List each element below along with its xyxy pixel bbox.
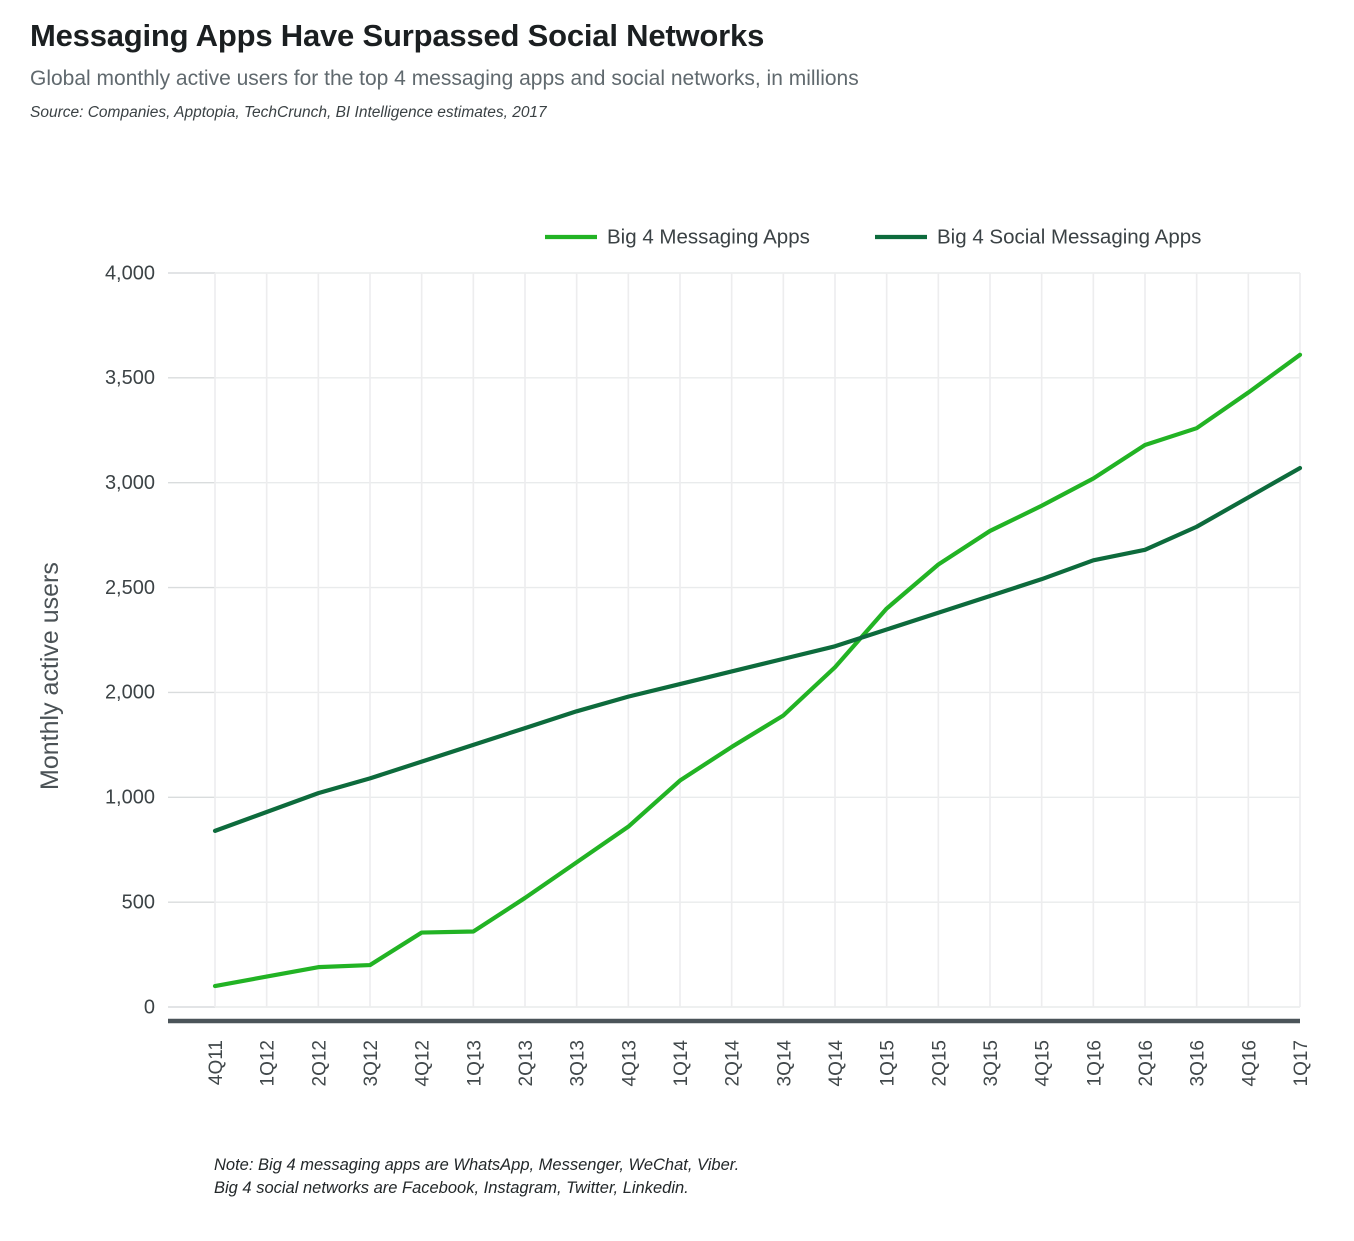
y-axis-tick-label: 500 [122, 891, 155, 913]
x-axis-tick-label: 3Q15 [981, 1040, 1002, 1086]
x-axis-tick-label: 3Q14 [774, 1040, 795, 1087]
legend-item-label[interactable]: Big 4 Messaging Apps [607, 225, 810, 248]
x-axis-tick-label: 4Q11 [206, 1040, 227, 1085]
y-axis-tick-label: 3,500 [105, 367, 155, 389]
y-axis-title: Monthly active users [36, 562, 64, 790]
footnote-line-2: Big 4 social networks are Facebook, Inst… [214, 1177, 739, 1200]
x-axis-tick-label: 1Q13 [464, 1040, 485, 1086]
line-chart-svg: 05001,0002,0002,5003,0003,5004,000 4Q111… [0, 0, 1354, 1241]
x-axis-tick-label: 2Q13 [516, 1040, 537, 1086]
series-line-social [215, 468, 1300, 831]
vertical-gridlines [215, 273, 1300, 1007]
chart-legend: Big 4 Messaging AppsBig 4 Social Messagi… [545, 225, 1201, 248]
series-line-messaging [215, 355, 1300, 986]
legend-item-label[interactable]: Big 4 Social Messaging Apps [937, 225, 1201, 248]
y-axis-tick-label: 1,000 [105, 787, 155, 809]
x-axis-tick-label: 1Q15 [878, 1040, 899, 1086]
x-axis-tick-label: 1Q12 [258, 1040, 279, 1086]
x-axis-tick-label: 1Q16 [1084, 1040, 1105, 1086]
x-axis-tick-label: 4Q15 [1033, 1040, 1054, 1086]
y-axis-tick-labels: 05001,0002,0002,5003,0003,5004,000 [105, 262, 155, 1018]
x-axis-tick-label: 4Q12 [413, 1040, 434, 1086]
x-axis-tick-label: 3Q16 [1188, 1040, 1209, 1086]
x-axis-tick-label: 1Q14 [671, 1040, 692, 1087]
y-axis-tick-label: 2,000 [105, 682, 155, 704]
horizontal-gridlines [168, 273, 1300, 1007]
x-axis-tick-label: 2Q15 [929, 1040, 950, 1086]
chart-footnote: Note: Big 4 messaging apps are WhatsApp,… [214, 1154, 739, 1201]
x-axis-tick-label: 2Q14 [723, 1040, 744, 1087]
x-axis-tick-label: 4Q13 [619, 1040, 640, 1086]
x-axis-tick-label: 2Q16 [1136, 1040, 1157, 1086]
x-axis-tick-label: 3Q12 [361, 1040, 382, 1086]
data-series-group [215, 355, 1300, 986]
y-axis-tick-label: 0 [144, 996, 155, 1018]
y-axis-tick-label: 2,500 [105, 577, 155, 599]
x-axis-tick-label: 4Q14 [826, 1040, 847, 1087]
chart-plot-area: 05001,0002,0002,5003,0003,5004,000 4Q111… [0, 0, 1354, 1241]
footnote-line-1: Note: Big 4 messaging apps are WhatsApp,… [214, 1154, 739, 1177]
x-axis-tick-label: 4Q16 [1239, 1040, 1260, 1086]
x-axis-tick-label: 2Q12 [309, 1040, 330, 1086]
x-axis-tick-label: 3Q13 [568, 1040, 589, 1086]
x-axis-tick-label: 1Q17 [1291, 1040, 1312, 1086]
x-axis-tick-labels: 4Q111Q122Q123Q124Q121Q132Q133Q134Q131Q14… [206, 1040, 1312, 1087]
y-axis-tick-label: 4,000 [105, 262, 155, 284]
y-axis-tick-label: 3,000 [105, 472, 155, 494]
